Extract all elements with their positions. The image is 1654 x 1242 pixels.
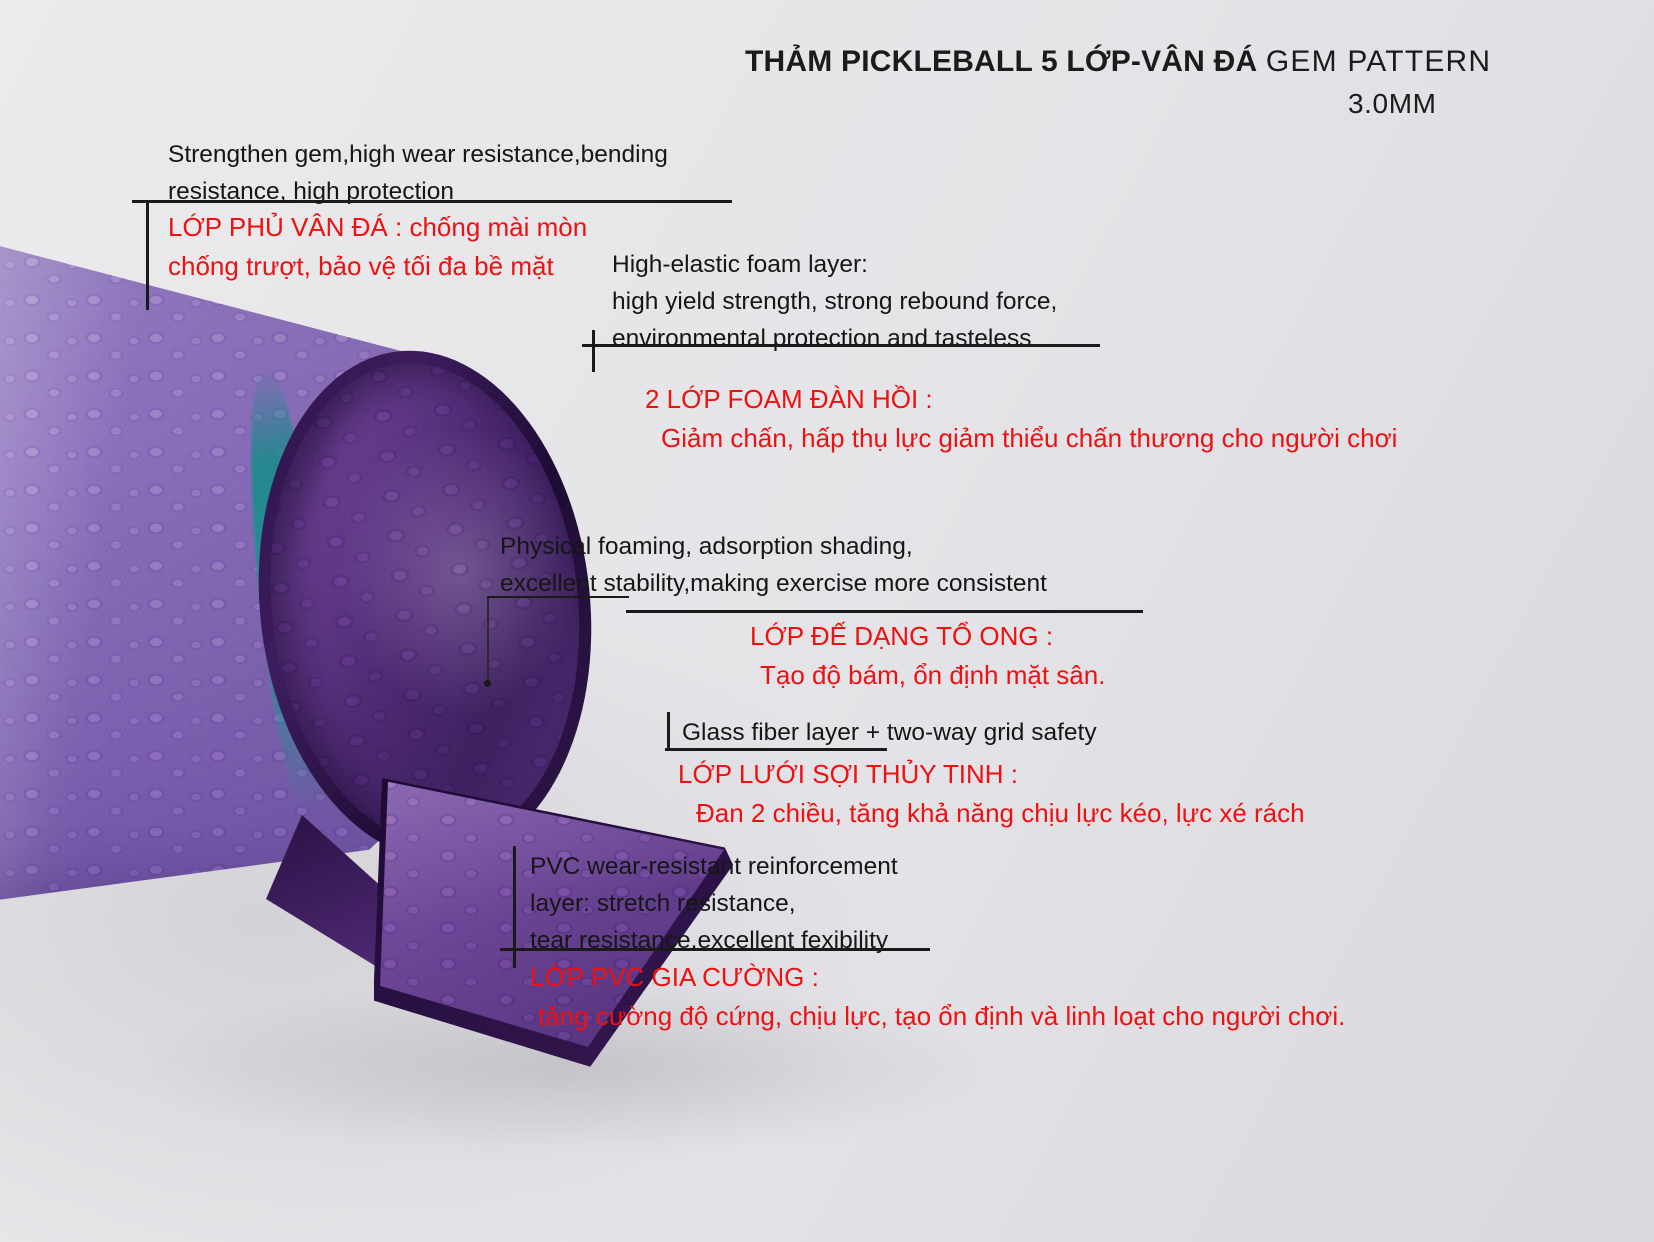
annotation-rule-5 bbox=[500, 948, 930, 951]
page-title-en: GEM PATTERN bbox=[1266, 45, 1491, 78]
annotation-line: LỚP PVC GIA CƯỜNG : bbox=[530, 958, 1345, 997]
annotation-line: Tạo độ bám, ổn định mặt sân. bbox=[750, 656, 1105, 695]
annotation-pvc-en: PVC wear-resistant reinforcement layer: … bbox=[530, 848, 898, 959]
page-title: THẢM PICKLEBALL 5 LỚP-VÂN ĐÁ GEM PATTERN bbox=[745, 45, 1491, 79]
annotation-honeycomb-vi: LỚP ĐẾ DẠNG TỔ ONG : Tạo độ bám, ổn định… bbox=[750, 617, 1105, 695]
annotation-line: layer: stretch resistance, bbox=[530, 885, 898, 922]
annotation-foam-vi: 2 LỚP FOAM ĐÀN HỒI : Giảm chấn, hấp thụ … bbox=[645, 380, 1397, 458]
annotation-line: resistance, high protection bbox=[168, 173, 668, 210]
annotation-gem-surface-en: Strengthen gem,high wear resistance,bend… bbox=[168, 136, 668, 210]
annotation-line: Glass fiber layer + two-way grid safety bbox=[682, 714, 1097, 751]
annotation-tick-4 bbox=[667, 712, 670, 750]
annotation-line: PVC wear-resistant reinforcement bbox=[530, 848, 898, 885]
annotation-rule-4 bbox=[665, 748, 887, 751]
annotation-rule-3 bbox=[626, 610, 1143, 613]
annotation-leader-dot-3 bbox=[484, 680, 491, 687]
thickness-label: 3.0MM bbox=[1348, 88, 1437, 120]
annotation-line: Physical foaming, adsorption shading, bbox=[500, 528, 1047, 565]
annotation-gem-surface-vi: LỚP PHỦ VÂN ĐÁ : chống mài mòn chống trư… bbox=[168, 208, 587, 286]
annotation-line: LỚP PHỦ VÂN ĐÁ : chống mài mòn bbox=[168, 208, 587, 247]
annotation-honeycomb-en: Physical foaming, adsorption shading, ex… bbox=[500, 528, 1047, 602]
annotation-tick-5 bbox=[513, 846, 516, 968]
infographic-canvas: THẢM PICKLEBALL 5 LỚP-VÂN ĐÁ GEM PATTERN… bbox=[0, 0, 1654, 1242]
annotation-line: High-elastic foam layer: bbox=[612, 246, 1057, 283]
annotation-tick-2 bbox=[592, 330, 595, 372]
annotation-line: environmental protection and tasteless bbox=[612, 320, 1057, 357]
annotation-line: tăng cường độ cứng, chịu lực, tạo ổn địn… bbox=[530, 997, 1345, 1036]
annotation-rule-2 bbox=[582, 344, 1100, 347]
annotation-line: tear resistance,excellent fexibility bbox=[530, 922, 898, 959]
annotation-pvc-vi: LỚP PVC GIA CƯỜNG : tăng cường độ cứng, … bbox=[530, 958, 1345, 1036]
annotation-line: LỚP ĐẾ DẠNG TỔ ONG : bbox=[750, 617, 1105, 656]
annotation-leader-base-3 bbox=[487, 596, 629, 598]
annotation-line: Giảm chấn, hấp thụ lực giảm thiểu chấn t… bbox=[645, 419, 1397, 458]
annotation-line: high yield strength, strong rebound forc… bbox=[612, 283, 1057, 320]
annotation-line: LỚP LƯỚI SỢI THỦY TINH : bbox=[678, 755, 1305, 794]
annotation-line: Đan 2 chiều, tăng khả năng chịu lực kéo,… bbox=[678, 794, 1305, 833]
annotation-line: 2 LỚP FOAM ĐÀN HỒI : bbox=[645, 380, 1397, 419]
annotation-rule-1 bbox=[132, 200, 732, 203]
annotation-glassfiber-en: Glass fiber layer + two-way grid safety bbox=[682, 714, 1097, 751]
annotation-foam-en: High-elastic foam layer: high yield stre… bbox=[612, 246, 1057, 357]
annotation-line: Strengthen gem,high wear resistance,bend… bbox=[168, 136, 668, 173]
annotation-glassfiber-vi: LỚP LƯỚI SỢI THỦY TINH : Đan 2 chiều, tă… bbox=[678, 755, 1305, 833]
annotation-line: chống trượt, bảo vệ tối đa bề mặt bbox=[168, 247, 587, 286]
annotation-tick-1 bbox=[146, 200, 149, 310]
page-title-vi: THẢM PICKLEBALL 5 LỚP-VÂN ĐÁ bbox=[745, 45, 1257, 78]
annotation-leader-3 bbox=[487, 596, 489, 684]
